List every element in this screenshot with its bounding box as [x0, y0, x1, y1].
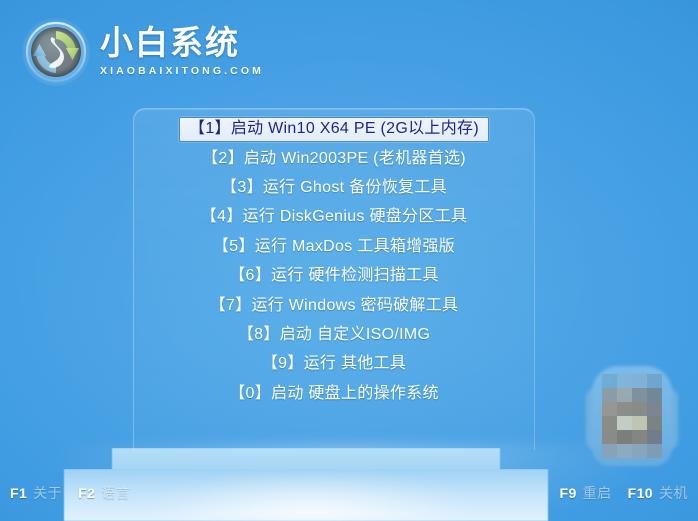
menu-item-label: 【6】运行 硬件检测扫描工具: [219, 264, 449, 289]
function-key-action: 语言: [101, 483, 130, 503]
function-key-f9[interactable]: F9重启: [560, 483, 612, 503]
menu-item-6[interactable]: 【6】运行 硬件检测扫描工具: [134, 262, 534, 291]
function-key-f2[interactable]: F2语言: [78, 483, 130, 503]
mosaic-tile: [647, 374, 662, 388]
mosaic-tile: [602, 374, 617, 388]
mosaic-tile: [602, 388, 617, 402]
mosaic-tile: [632, 444, 647, 458]
menu-item-2[interactable]: 【2】启动 Win2003PE (老机器首选): [134, 144, 534, 173]
mosaic-tile: [632, 388, 647, 402]
menu-item-1[interactable]: 【1】启动 Win10 X64 PE (2G以上内存): [134, 115, 534, 144]
boot-menu-panel: 【1】启动 Win10 X64 PE (2G以上内存)【2】启动 Win2003…: [133, 108, 535, 450]
menu-item-10[interactable]: 【0】启动 硬盘上的操作系统: [134, 380, 534, 409]
brand-logo: 小白系统 XIAOBAIXITONG.COM: [22, 18, 264, 86]
mosaic-tile: [617, 444, 632, 458]
function-key-action: 关于: [33, 483, 62, 503]
boot-menu-screen: 小白系统 XIAOBAIXITONG.COM 【1】启动 Win10 X64 P…: [0, 0, 698, 521]
function-key-action: 重启: [583, 483, 612, 503]
function-key-name: F2: [78, 485, 95, 501]
menu-item-label: 【2】启动 Win2003PE (老机器首选): [192, 147, 476, 172]
function-key-name: F1: [10, 485, 27, 501]
mosaic-tile: [617, 416, 632, 430]
brand-subtitle: XIAOBAIXITONG.COM: [100, 66, 264, 77]
mosaic-tile: [617, 402, 632, 416]
stage-top-face: [112, 448, 500, 470]
censored-mascot-watermark: [586, 362, 678, 468]
function-keys-left: F1关于F2语言: [10, 483, 130, 503]
menu-item-label: 【4】运行 DiskGenius 硬盘分区工具: [191, 205, 478, 230]
mosaic-tile: [632, 374, 647, 388]
mosaic-tile: [617, 388, 632, 402]
mosaic-tile: [647, 430, 662, 444]
function-key-name: F9: [560, 485, 577, 501]
brand-text: 小白系统 XIAOBAIXITONG.COM: [100, 26, 264, 79]
function-key-f10[interactable]: F10关机: [628, 483, 688, 503]
boot-menu-list[interactable]: 【1】启动 Win10 X64 PE (2G以上内存)【2】启动 Win2003…: [134, 109, 534, 450]
recycle-sync-circle-icon: [22, 18, 90, 86]
function-key-action: 关机: [659, 483, 688, 503]
menu-item-label: 【9】运行 其他工具: [252, 352, 416, 377]
menu-item-label: 【7】运行 Windows 密码破解工具: [200, 294, 469, 319]
menu-item-7[interactable]: 【7】运行 Windows 密码破解工具: [134, 291, 534, 320]
mosaic-tile: [632, 430, 647, 444]
mosaic-tile: [617, 430, 632, 444]
mosaic-tile: [632, 416, 647, 430]
stage-gloss: [150, 472, 470, 520]
mosaic-tile: [647, 416, 662, 430]
menu-item-8[interactable]: 【8】启动 自定义ISO/IMG: [134, 321, 534, 350]
menu-item-label: 【3】运行 Ghost 备份恢复工具: [211, 176, 457, 201]
function-keys-right: F9重启F10关机: [560, 483, 688, 503]
function-key-name: F10: [628, 485, 653, 501]
mosaic-tile: [602, 444, 617, 458]
function-key-f1[interactable]: F1关于: [10, 483, 62, 503]
mosaic-tile: [632, 402, 647, 416]
brand-title: 小白系统: [100, 26, 264, 59]
menu-item-4[interactable]: 【4】运行 DiskGenius 硬盘分区工具: [134, 203, 534, 232]
menu-item-label: 【5】运行 MaxDos 工具箱增强版: [203, 235, 465, 260]
mosaic-tile: [617, 374, 632, 388]
menu-item-label: 【1】启动 Win10 X64 PE (2G以上内存): [179, 117, 489, 142]
mosaic-tile: [602, 416, 617, 430]
logo-glow: [22, 18, 90, 86]
mosaic-tile: [647, 444, 662, 458]
mosaic-tile: [602, 402, 617, 416]
menu-item-9[interactable]: 【9】运行 其他工具: [134, 350, 534, 379]
menu-item-5[interactable]: 【5】运行 MaxDos 工具箱增强版: [134, 233, 534, 262]
menu-item-label: 【0】启动 硬盘上的操作系统: [219, 382, 449, 407]
mosaic-censor-overlay: [602, 374, 662, 458]
mosaic-tile: [647, 402, 662, 416]
mosaic-tile: [647, 388, 662, 402]
menu-item-3[interactable]: 【3】运行 Ghost 备份恢复工具: [134, 174, 534, 203]
mosaic-tile: [602, 430, 617, 444]
menu-item-label: 【8】启动 自定义ISO/IMG: [228, 323, 440, 348]
